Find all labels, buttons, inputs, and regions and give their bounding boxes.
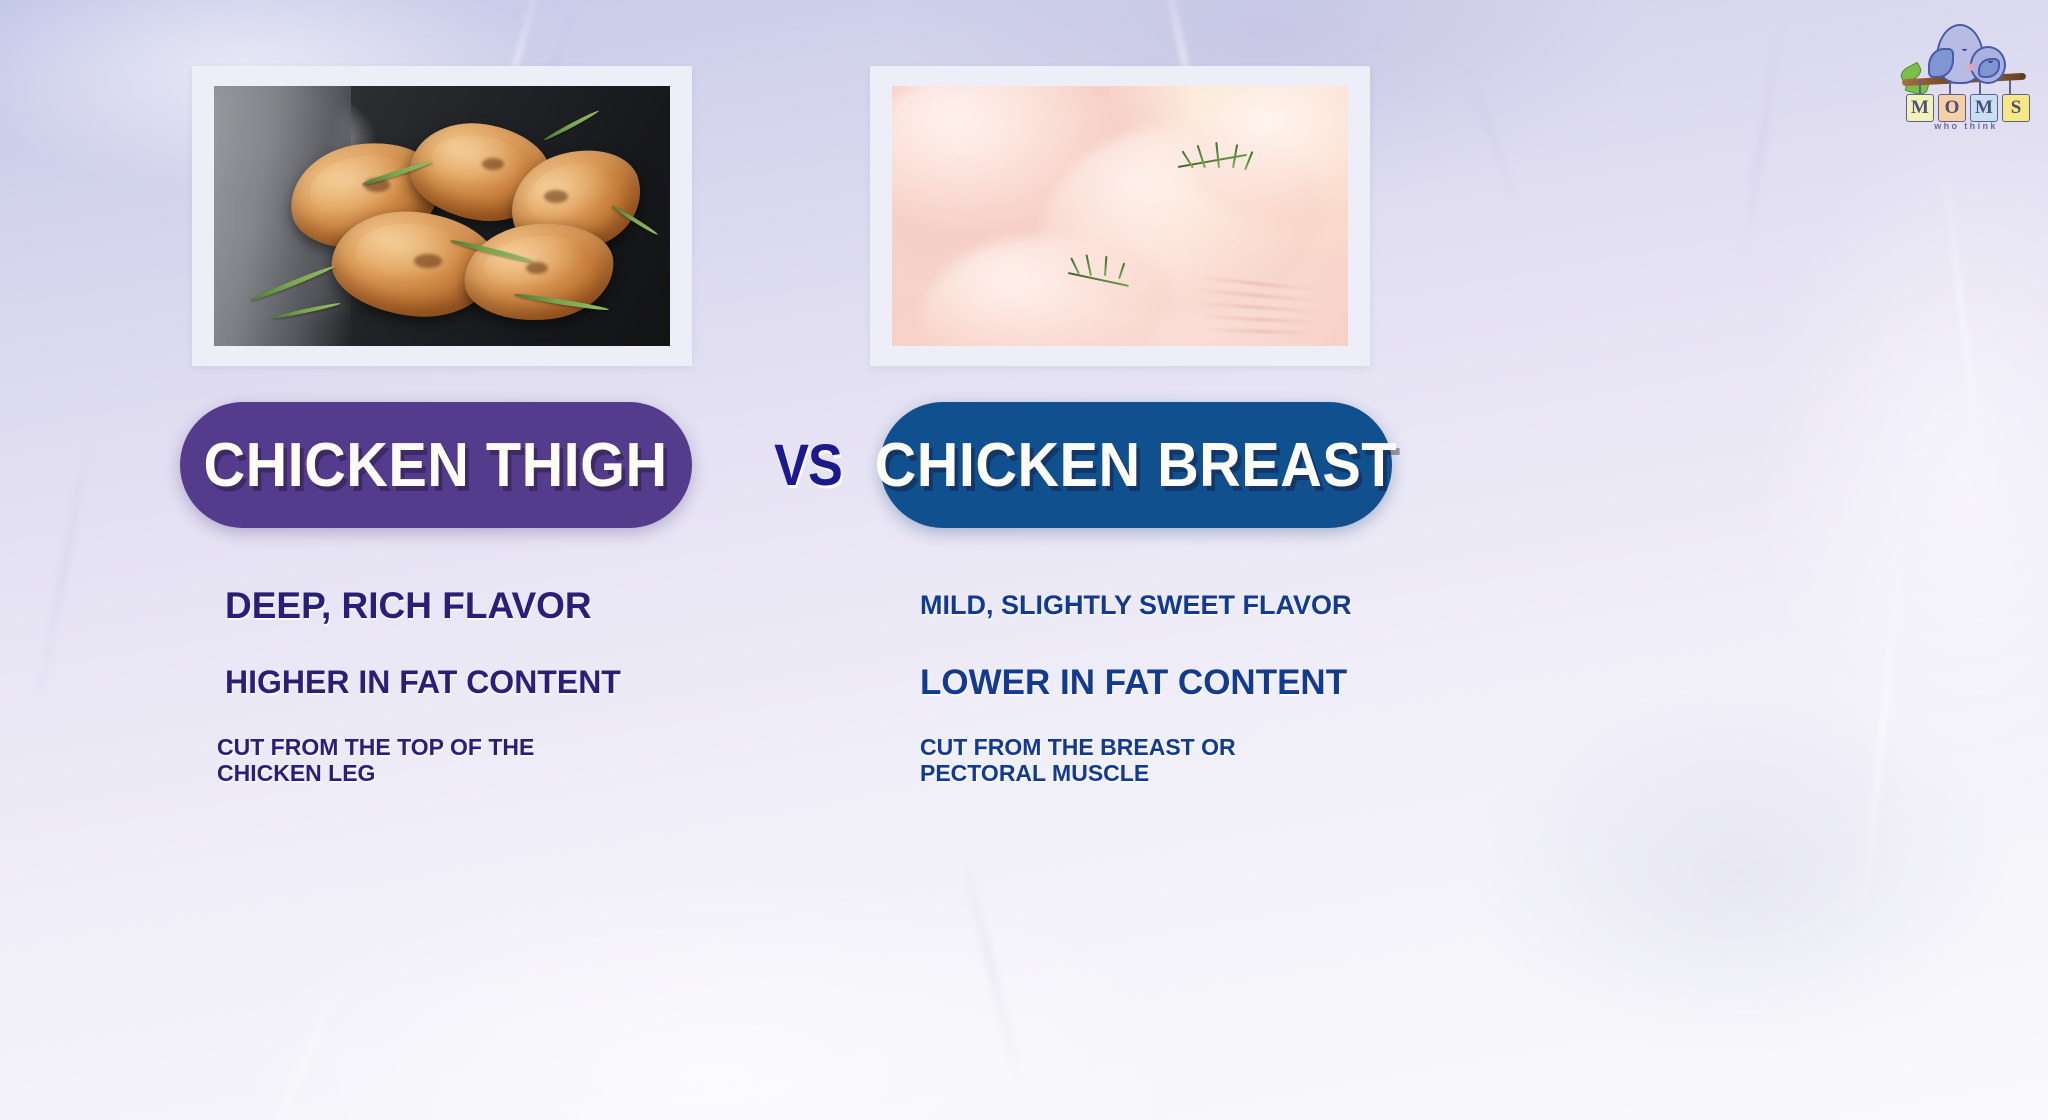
breast-feature-2: LOWER IN FAT CONTENT: [920, 663, 1480, 702]
breast-feature-3: CUT FROM THE BREAST OR PECTORAL MUSCLE: [920, 735, 1480, 787]
logo-tagline: who think: [1908, 121, 2024, 131]
baby-bird-beak-icon: [1966, 62, 1974, 72]
logo-string: [1919, 80, 1921, 94]
logo-tile-m2: M: [1970, 94, 1998, 122]
baby-bird-eye-icon: [1988, 58, 1993, 63]
thigh-photo-frame: [192, 66, 692, 366]
breast-photo: [892, 86, 1348, 346]
breast-feature-1: MILD, SLIGHTLY SWEET FLAVOR: [920, 590, 1480, 620]
infographic-canvas: CHICKEN THIGH VS CHICKEN BREAST DEEP, RI…: [0, 0, 2048, 1120]
chicken-thigh-badge-label: CHICKEN THIGH: [204, 430, 668, 501]
vs-separator: VS: [754, 432, 862, 499]
moms-who-think-logo[interactable]: M O M S who think: [1900, 18, 2030, 130]
chicken-breast-badge[interactable]: CHICKEN BREAST: [880, 402, 1392, 528]
mother-bird-eye-icon: [1962, 46, 1967, 51]
logo-string: [1979, 80, 1981, 94]
chicken-thigh-badge[interactable]: CHICKEN THIGH: [180, 402, 692, 528]
logo-string: [2009, 80, 2011, 94]
logo-string: [1949, 80, 1951, 94]
breast-photo-frame: [870, 66, 1370, 366]
thigh-feature-3: CUT FROM THE TOP OF THE CHICKEN LEG: [217, 735, 777, 787]
thigh-feature-2: HIGHER IN FAT CONTENT: [225, 665, 785, 701]
chicken-breast-badge-label: CHICKEN BREAST: [875, 430, 1397, 501]
logo-tile-m1: M: [1906, 94, 1934, 122]
thigh-feature-1: DEEP, RICH FLAVOR: [225, 585, 785, 626]
thigh-photo: [214, 86, 670, 346]
logo-tile-s: S: [2002, 94, 2030, 122]
logo-tile-o: O: [1938, 94, 1966, 122]
logo-tiles: M O M S: [1906, 94, 2030, 122]
